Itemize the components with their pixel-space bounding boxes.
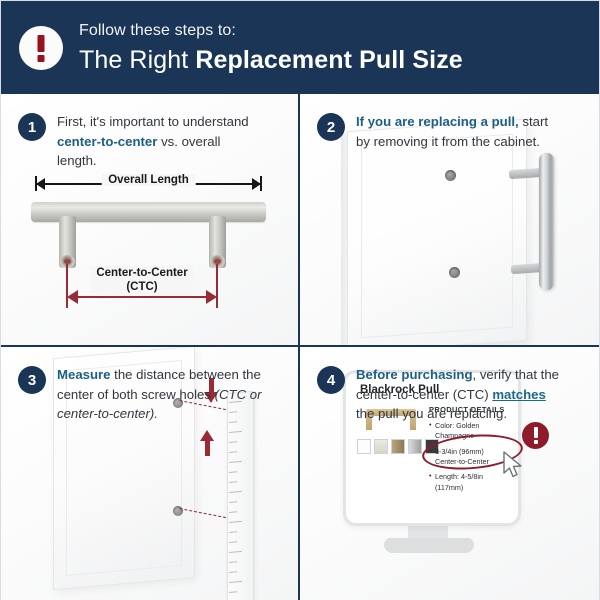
exclamation-stem [38, 35, 45, 52]
step-1-text: First, it's important to understand cent… [57, 112, 262, 171]
step-number-1: 1 [18, 113, 46, 141]
exclamation-circle-icon [522, 422, 549, 449]
ctc-arrow-left-icon [67, 290, 78, 304]
arrow-head-left-icon [36, 178, 45, 190]
ctc-label-line1: Center-to-Center [96, 266, 187, 280]
ctc-dimension-line [73, 296, 211, 298]
step-2-highlight: If you are replacing a pull, [356, 114, 519, 129]
arrow-up-stem [205, 441, 210, 456]
screw-hole-bottom [449, 267, 460, 278]
ctc-arrow-right-icon [206, 290, 217, 304]
exclamation-circle-icon [19, 26, 63, 70]
step-number-2: 2 [317, 113, 345, 141]
step-4-tail: the pull you are replacing. [356, 406, 507, 421]
page-title-bold: Replacement Pull Size [195, 46, 462, 74]
header-banner: Follow these steps to: The Right Replace… [1, 1, 599, 94]
overall-length-label: Overall Length [101, 174, 196, 186]
step-panel-4: 4 Before purchasing, verify that the cen… [300, 347, 599, 600]
step-1-lead: First, it's important to understand [57, 114, 249, 129]
screw-hole-top [445, 170, 456, 181]
exclamation-dot [534, 440, 538, 444]
step-number-3: 3 [18, 366, 46, 394]
thumbnail-1[interactable] [357, 439, 371, 454]
step-panel-3: 3 Measure the distance between the cente… [1, 347, 300, 600]
bar-pull-diagram: Overall Length Center-to-Center (CTC) [1, 168, 300, 343]
step-1-highlight: center-to-center [57, 134, 157, 149]
thumbnail-3[interactable] [391, 439, 405, 454]
bar-pull-handle [539, 153, 554, 290]
product-detail-item: Length: 4-5/8in (117mm) [429, 472, 509, 493]
page-title-thin: The Right [79, 46, 195, 74]
step-number-4: 4 [317, 366, 345, 394]
matches-link[interactable]: matches [492, 387, 546, 402]
exclamation-stem [534, 427, 538, 438]
header-kicker: Follow these steps to: [79, 23, 463, 39]
header-text-block: Follow these steps to: The Right Replace… [79, 23, 463, 73]
mouse-pointer-icon [502, 451, 524, 484]
arrow-up-icon [200, 430, 214, 441]
exclamation-dot [38, 55, 45, 62]
pull-post-left [59, 216, 76, 268]
pull-post-right [209, 216, 226, 268]
step-2-text: If you are replacing a pull, start by re… [356, 112, 561, 151]
ctc-dimension [67, 290, 217, 304]
cabinet-door-with-pull-illustration [300, 145, 599, 345]
thumbnail-2[interactable] [374, 439, 388, 454]
step-1-head: 1 First, it's important to understand ce… [1, 94, 298, 171]
step-3-highlight: Measure [57, 367, 111, 382]
monitor-base [384, 538, 474, 553]
step-4-text: Before purchasing, verify that the cente… [356, 365, 561, 424]
step-3-head: 3 Measure the distance between the cente… [1, 347, 298, 424]
infographic-root: Follow these steps to: The Right Replace… [0, 0, 600, 600]
step-4-head: 4 Before purchasing, verify that the cen… [300, 347, 599, 424]
steps-grid: 1 First, it's important to understand ce… [1, 94, 599, 600]
step-panel-2: 2 If you are replacing a pull, start by … [300, 94, 599, 347]
page-title: The Right Replacement Pull Size [79, 48, 463, 73]
step-4-highlight: Before purchasing [356, 367, 473, 382]
thumbnail-4[interactable] [408, 439, 422, 454]
arrow-head-right-icon [252, 178, 261, 190]
step-2-head: 2 If you are replacing a pull, start by … [300, 94, 599, 151]
overall-length-dimension: Overall Length [31, 176, 266, 192]
step-3-text: Measure the distance between the center … [57, 365, 262, 424]
cabinet-door [347, 119, 527, 347]
step-panel-1: 1 First, it's important to understand ce… [1, 94, 300, 347]
